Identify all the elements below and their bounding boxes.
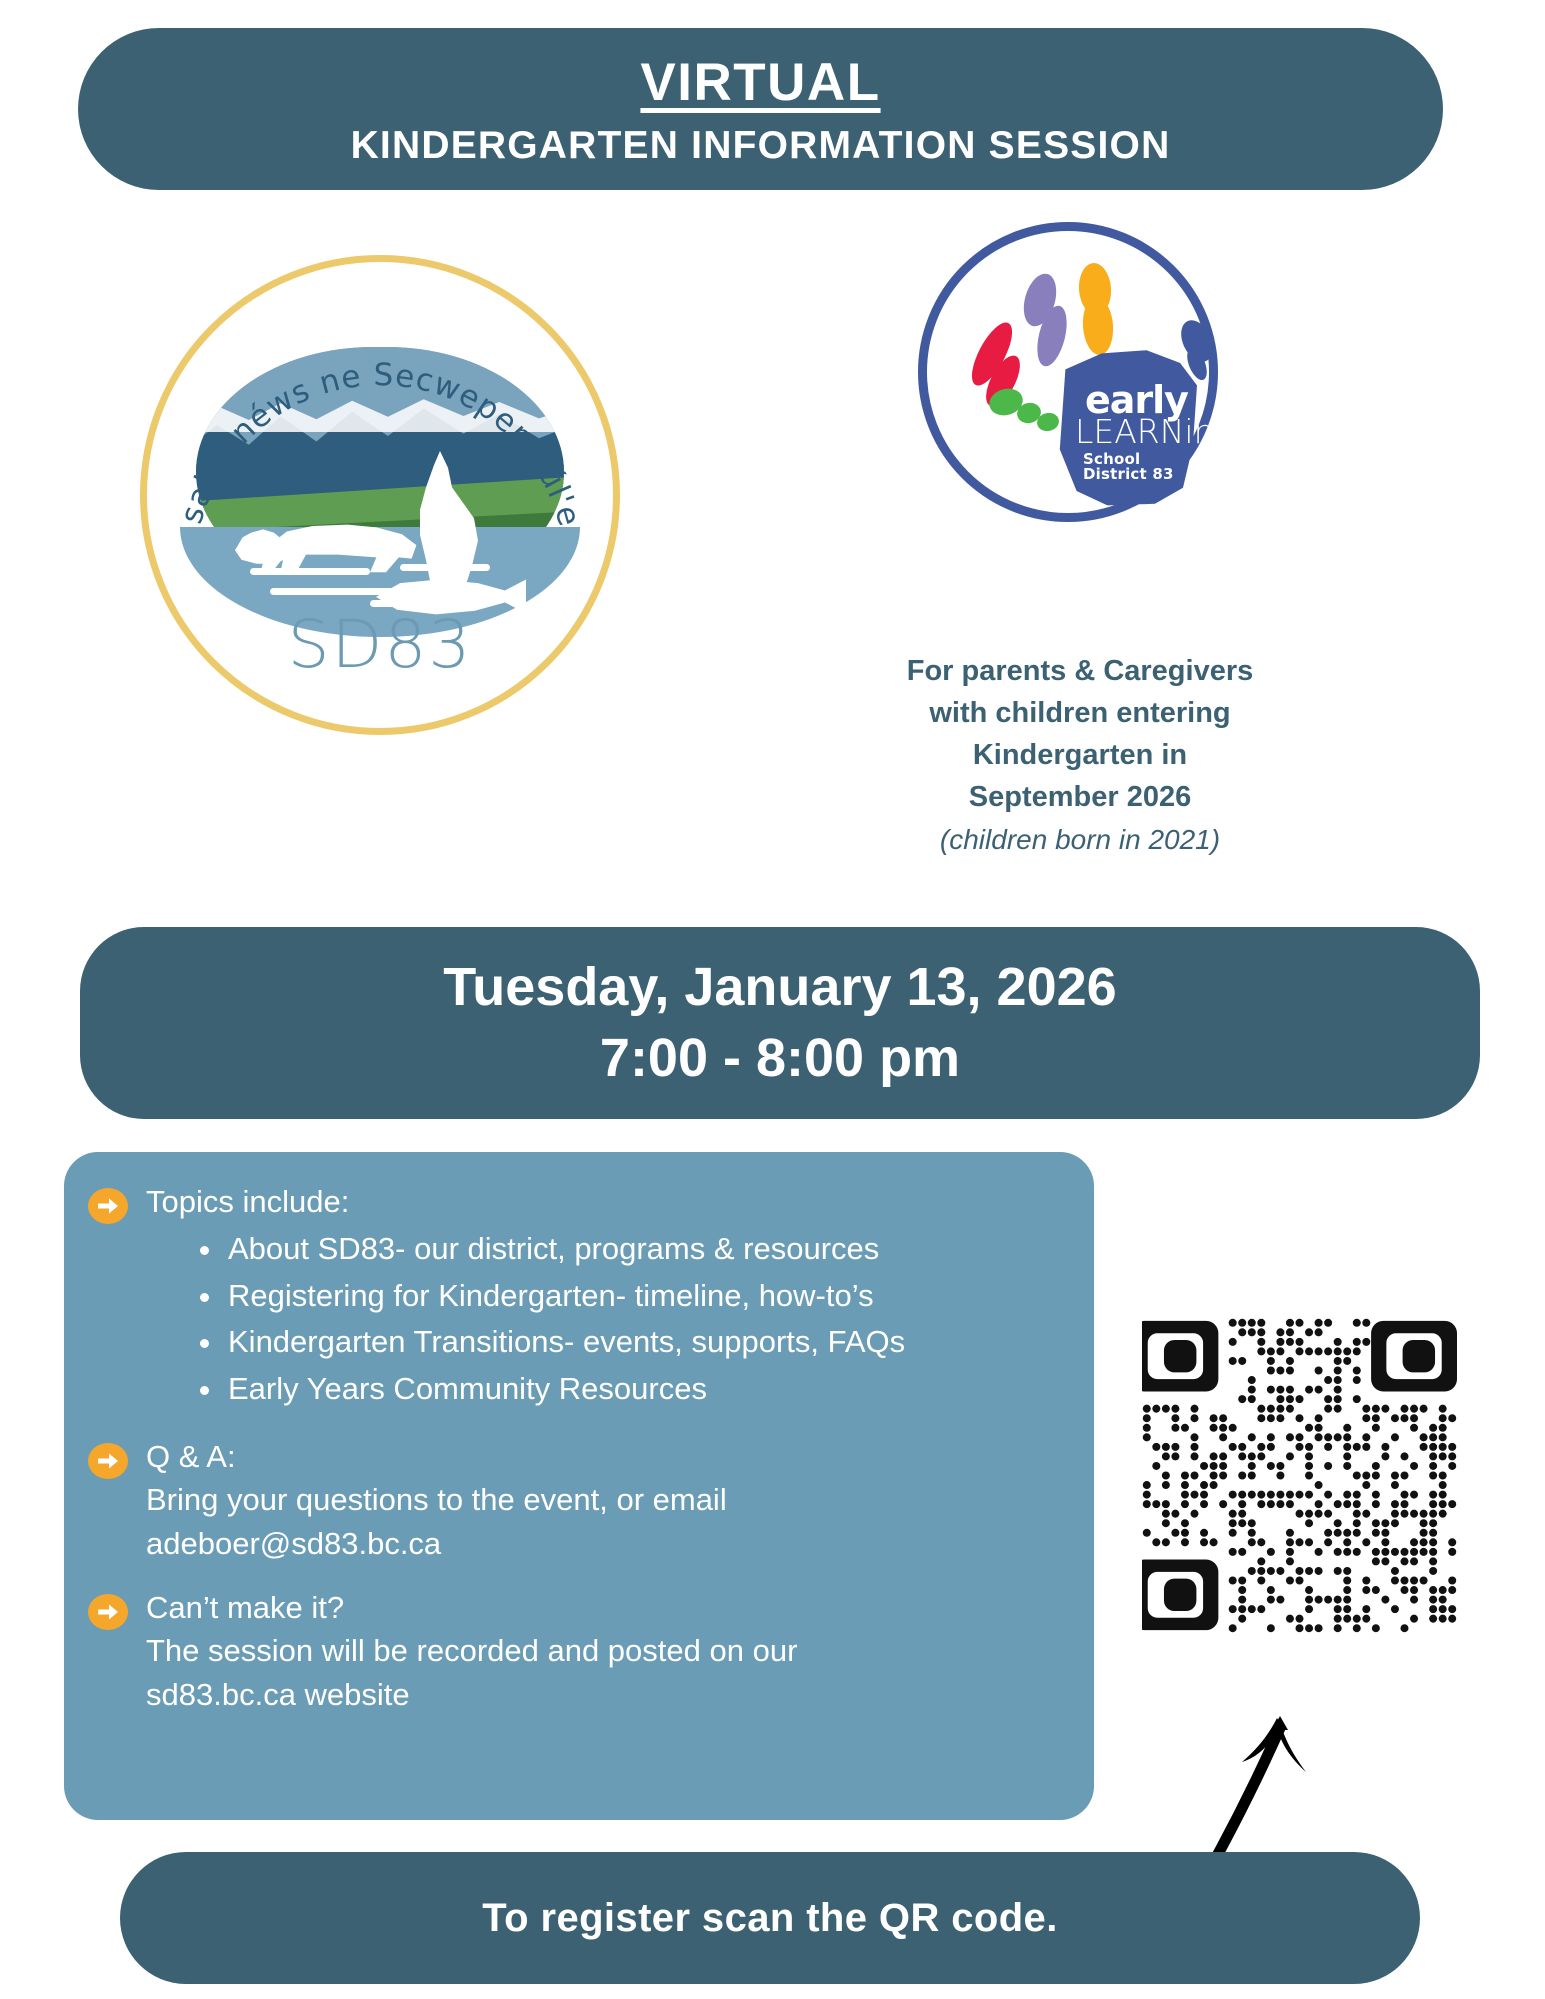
header-title-session: KINDERGARTEN INFORMATION SESSION [351, 124, 1171, 169]
logos-row: Ḱwsaltktnéws ne Secwepemcúl'ecw SD83 ear… [0, 200, 1545, 920]
sd83-arc-label: Ḱwsaltktnéws ne Secwepemcúl'ecw [140, 255, 587, 531]
footer-banner: To register scan the QR code. [120, 1852, 1420, 1984]
audience-note: (children born in 2021) [850, 820, 1310, 861]
topics-include-label: Topics include: [146, 1182, 1064, 1223]
sd83-logo: Ḱwsaltktnéws ne Secwepemcúl'ecw SD83 [140, 255, 620, 735]
audience-line-2: with children entering [850, 692, 1310, 734]
topics-panel: Topics include: About SD83- our district… [64, 1152, 1094, 1820]
cant-make-it-label: Can’t make it? [146, 1588, 1064, 1629]
arrow-right-icon [88, 1188, 128, 1224]
register-instruction: To register scan the QR code. [482, 1896, 1057, 1941]
recording-line-1: The session will be recorded and posted … [146, 1629, 1064, 1673]
qr-code[interactable] [1142, 1318, 1457, 1633]
early-learning-word-district: School District 83 [1083, 452, 1209, 482]
date-banner: Tuesday, January 13, 2026 7:00 - 8:00 pm [80, 927, 1480, 1119]
early-learning-word-learning: LEARNing [1075, 415, 1234, 448]
qa-label: Q & A: [146, 1437, 1064, 1478]
arrow-right-icon [88, 1443, 128, 1479]
list-item: About SD83- our district, programs & res… [198, 1227, 1064, 1272]
header-banner: VIRTUAL KINDERGARTEN INFORMATION SESSION [78, 28, 1443, 190]
audience-text-block: For parents & Caregivers with children e… [850, 650, 1310, 861]
qr-code-graphic[interactable] [1142, 1318, 1457, 1633]
qa-line-1: Bring your questions to the event, or em… [146, 1478, 1064, 1522]
arrow-right-icon [88, 1594, 128, 1630]
list-item: Kindergarten Transitions- events, suppor… [198, 1320, 1064, 1365]
website-link[interactable]: sd83.bc.ca website [146, 1673, 1064, 1717]
list-item: Registering for Kindergarten- timeline, … [198, 1274, 1064, 1319]
header-title-virtual: VIRTUAL [640, 53, 880, 114]
early-learning-logo: early LEARNing School District 83 [918, 222, 1218, 522]
audience-line-3: Kindergarten in [850, 734, 1310, 776]
sd83-wordmark: SD83 [140, 606, 620, 683]
audience-line-4: September 2026 [850, 776, 1310, 818]
topics-group-2: Q & A: Bring your questions to the event… [88, 1437, 1064, 1566]
topics-bullet-list: About SD83- our district, programs & res… [198, 1227, 1064, 1412]
list-item: Early Years Community Resources [198, 1367, 1064, 1412]
contact-email[interactable]: adeboer@sd83.bc.ca [146, 1522, 1064, 1566]
topics-group-3: Can’t make it? The session will be recor… [88, 1588, 1064, 1717]
handprint-finger-orange-lower-icon [1081, 296, 1115, 356]
event-date: Tuesday, January 13, 2026 [443, 955, 1116, 1020]
event-time: 7:00 - 8:00 pm [600, 1026, 960, 1091]
poster-root: VIRTUAL KINDERGARTEN INFORMATION SESSION [0, 0, 1545, 1999]
topics-group-1: Topics include: About SD83- our district… [88, 1182, 1064, 1413]
svg-text:Ḱwsaltktnéws ne Secwepemcúl'ec: Ḱwsaltktnéws ne Secwepemcúl'ecw [140, 255, 587, 531]
audience-line-1: For parents & Caregivers [850, 650, 1310, 692]
